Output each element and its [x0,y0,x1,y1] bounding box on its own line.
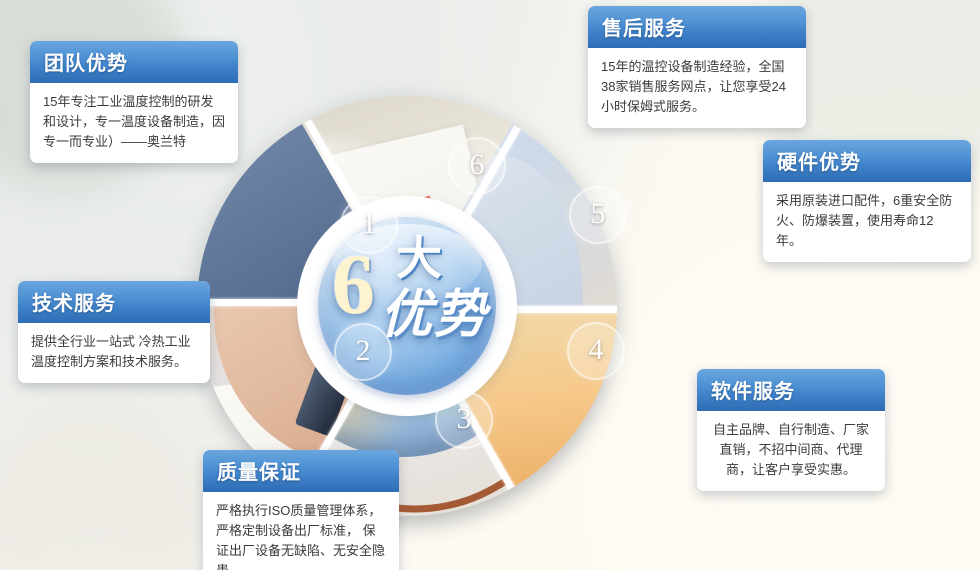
card-team-body: 15年专注工业温度控制的研发和设计，专一温度设备制造，因专一而专业）——奥兰特 [30,83,238,163]
bokeh-blob [0,400,220,570]
segment-number-2[interactable]: 2 [334,323,392,381]
card-tech-body: 提供全行业一站式 冷热工业温度控制方案和技术服务。 [18,323,210,383]
card-tech-title: 技术服务 [18,281,210,323]
center-word: 优势 [380,287,488,343]
card-software-title: 软件服务 [697,369,885,411]
card-software[interactable]: 软件服务 自主品牌、自行制造、厂家直销，不招中间商、代理商，让客户享受实惠。 [697,369,885,491]
card-software-body: 自主品牌、自行制造、厂家直销，不招中间商、代理商，让客户享受实惠。 [697,411,885,491]
card-team[interactable]: 团队优势 15年专注工业温度控制的研发和设计，专一温度设备制造，因专一而专业）—… [30,41,238,163]
card-hardware-title: 硬件优势 [763,140,971,182]
segment-number-1[interactable]: 1 [340,196,398,254]
center-unit: 大 [396,235,442,281]
card-tech[interactable]: 技术服务 提供全行业一站式 冷热工业温度控制方案和技术服务。 [18,281,210,383]
segment-number-4[interactable]: 4 [567,322,625,380]
infographic-canvas: 6 大 优势 1 6 5 4 3 2 团队优势 15年专注工业温度控制的研发和设… [0,0,980,570]
card-hardware[interactable]: 硬件优势 采用原装进口配件，6重安全防火、防爆装置，使用寿命12年。 [763,140,971,262]
card-quality-body: 严格执行ISO质量管理体系，严格定制设备出厂标准， 保证出厂设备无缺陷、无安全隐… [203,492,399,570]
segment-number-6[interactable]: 6 [448,137,506,195]
card-team-title: 团队优势 [30,41,238,83]
segment-number-5[interactable]: 5 [569,186,627,244]
card-aftersales[interactable]: 售后服务 15年的温控设备制造经验，全国38家销售服务网点，让您享受24小时保姆… [588,6,806,128]
card-aftersales-body: 15年的温控设备制造经验，全国38家销售服务网点，让您享受24小时保姆式服务。 [588,48,806,128]
card-quality[interactable]: 质量保证 严格执行ISO质量管理体系，严格定制设备出厂标准， 保证出厂设备无缺陷… [203,450,399,570]
card-aftersales-title: 售后服务 [588,6,806,48]
card-quality-title: 质量保证 [203,450,399,492]
segment-number-3[interactable]: 3 [435,391,493,449]
card-hardware-body: 采用原装进口配件，6重安全防火、防爆装置，使用寿命12年。 [763,182,971,262]
